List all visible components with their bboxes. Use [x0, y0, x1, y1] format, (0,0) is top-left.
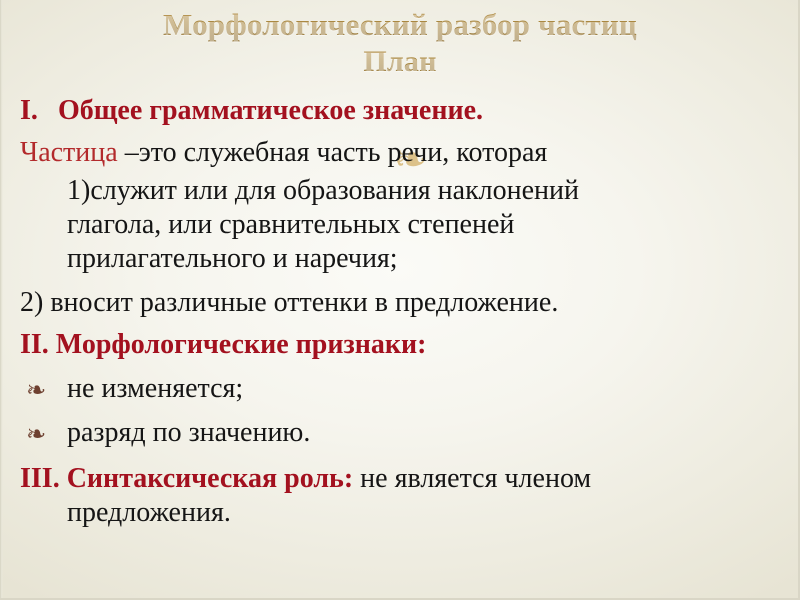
- section-i-heading: I.Общее грамматическое значение.: [20, 94, 782, 128]
- slide-canvas: Морфологический разбор частиц План ❧ I.О…: [0, 0, 800, 600]
- section-iii-rest-line-2: предложения.: [20, 496, 782, 530]
- page-title: Морфологический разбор частиц: [0, 6, 800, 44]
- particle-definition: Частица –это служебная часть речи, котор…: [20, 136, 782, 170]
- page-subtitle: План: [0, 44, 800, 80]
- section-i-point-1-line-2: глагола, или сравнительных степеней: [20, 208, 782, 242]
- section-i-point-1-line-3: прилагательного и наречия;: [20, 242, 782, 276]
- section-ii-heading-text: Морфологические признаки:: [56, 329, 427, 360]
- fleuron-bullet-icon: ❧: [26, 374, 60, 406]
- section-iii-rest-text: не является членом: [353, 463, 591, 494]
- section-i-point-1-line-1: 1)служит или для образования наклонений: [20, 174, 782, 208]
- section-i-numeral: I.: [20, 94, 58, 128]
- particle-definition-text: –это служебная часть речи, которая: [118, 137, 548, 168]
- list-item-label: разряд по значению.: [67, 417, 310, 448]
- list-item: ❧ не изменяется;: [20, 372, 782, 406]
- list-item-label: не изменяется;: [67, 373, 243, 404]
- section-i-heading-text: Общее грамматическое значение.: [58, 95, 483, 126]
- title-block: Морфологический разбор частиц План: [0, 6, 800, 80]
- section-ii-heading: II. Морфологические признаки:: [20, 328, 782, 362]
- fleuron-bullet-icon: ❧: [26, 418, 60, 450]
- slide-body: ❧ I.Общее грамматическое значение. Части…: [0, 92, 800, 530]
- section-ii-numeral: II.: [20, 328, 49, 362]
- section-iii-heading: III. Синтаксическая роль: не является чл…: [20, 462, 782, 496]
- section-iii-heading-text: Синтаксическая роль:: [67, 463, 353, 494]
- list-item: ❧ разряд по значению.: [20, 416, 782, 450]
- section-i-point-2: 2) вносит различные оттенки в предложени…: [20, 286, 782, 320]
- section-iii-numeral: III.: [20, 462, 60, 496]
- particle-term: Частица: [20, 137, 118, 168]
